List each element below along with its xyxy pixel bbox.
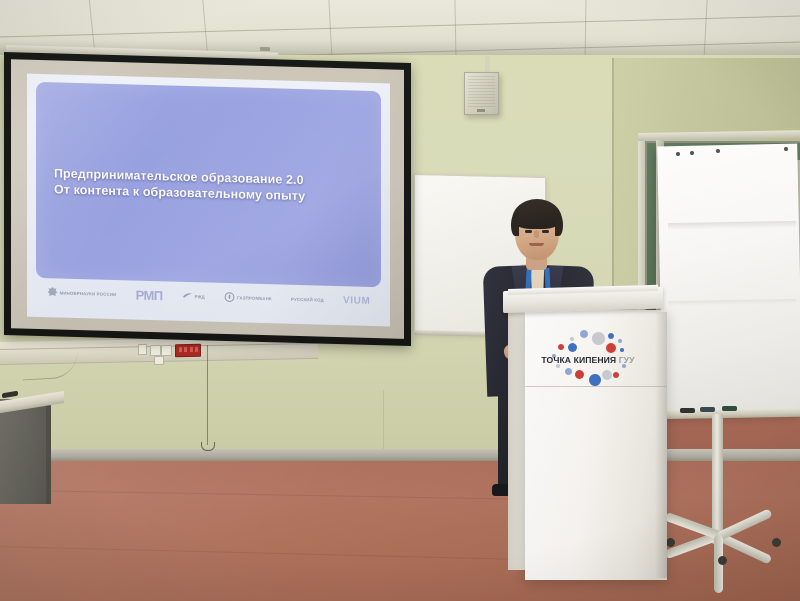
logo-label: МИНОБРНАУКИ РОССИИ (60, 290, 117, 297)
logo-dot (608, 333, 614, 339)
logo-label: РЖД (195, 294, 205, 299)
wall-speaker (464, 72, 499, 115)
logo-dot (558, 344, 564, 350)
podium-logo-text: ТОЧКА КИПЕНИЯ ГУУ (532, 355, 644, 365)
podium-shadow (655, 312, 667, 578)
eagle-emblem-icon (47, 286, 58, 298)
flipchart-clip[interactable] (716, 149, 720, 153)
flipchart-caster (718, 556, 727, 565)
flipchart-paper (657, 144, 800, 417)
speaker-nose (534, 230, 539, 238)
logo-dot (613, 372, 619, 378)
speaker-mouth (529, 243, 544, 246)
logo-dot (580, 330, 588, 338)
logo-rzd: РЖД (182, 290, 205, 303)
logo-dot (602, 370, 612, 380)
logo-label: РУССКИЙ КОД (291, 296, 324, 302)
flipchart-clip[interactable] (784, 147, 788, 151)
slide-title-line-2: От контента к образовательному опыту (54, 182, 371, 206)
speaker-hair-side (555, 214, 563, 236)
red-indicator-panel (175, 344, 201, 357)
projection-screen: Предпринимательское образование 2.0 От к… (4, 52, 411, 346)
logo-gazprombank: ГАЗПРОМБАНК (224, 291, 272, 304)
power-socket[interactable] (150, 345, 161, 356)
logo-label: ГАЗПРОМБАНК (237, 295, 272, 301)
logo-dot (620, 348, 624, 352)
screen-surface: Предпринимательское образование 2.0 От к… (11, 59, 404, 339)
flipchart-caster (666, 538, 675, 547)
light-switch[interactable] (138, 344, 147, 355)
logo-vium: VIUM (343, 295, 370, 307)
rzd-wing-icon (182, 290, 193, 302)
flipchart-clip[interactable] (676, 152, 680, 156)
logo-label: РМП (136, 287, 163, 303)
lecture-room-photo: Предпринимательское образование 2.0 От к… (0, 0, 800, 601)
logo-dot (565, 368, 572, 375)
podium-logo-brand: ТОЧКА КИПЕНИЯ (541, 355, 616, 365)
logo-russian-code: РУССКИЙ КОД (291, 296, 324, 302)
slide-hero-panel: Предпринимательское образование 2.0 От к… (36, 82, 381, 287)
marker-pen[interactable] (700, 407, 715, 412)
logo-dot (575, 370, 584, 379)
logo-label: VIUM (343, 295, 370, 307)
side-desk-edge (46, 396, 51, 504)
marker-pen[interactable] (680, 408, 695, 413)
logo-russian-government-emblem: МИНОБРНАУКИ РОССИИ (47, 286, 117, 300)
logo-dot (570, 337, 574, 341)
logo-dot (606, 343, 616, 353)
logo-dot (568, 343, 577, 352)
marker-pen[interactable] (722, 406, 737, 411)
logo-dot (592, 332, 605, 345)
logo-dot (589, 374, 601, 386)
slide-title: Предпринимательское образование 2.0 От к… (54, 166, 371, 206)
podium-logo-suffix: ГУУ (619, 355, 635, 365)
power-socket[interactable] (154, 356, 164, 365)
hanging-cable (207, 345, 208, 445)
power-socket[interactable] (161, 345, 172, 356)
flipchart-pole (712, 414, 723, 544)
podium-logo: ТОЧКА КИПЕНИЯ ГУУ (532, 330, 644, 392)
speaker-hair-side (511, 214, 519, 236)
flipchart-clip[interactable] (690, 151, 694, 155)
side-desk-body (0, 399, 50, 504)
flipchart-caster (772, 538, 781, 547)
slide: Предпринимательское образование 2.0 От к… (27, 74, 390, 327)
flame-circle-icon (224, 291, 235, 303)
flipchart-base (668, 528, 784, 562)
logo-dot (618, 339, 622, 343)
screen-roller-knob[interactable] (260, 47, 270, 51)
logo-rmp: РМП (136, 287, 163, 303)
